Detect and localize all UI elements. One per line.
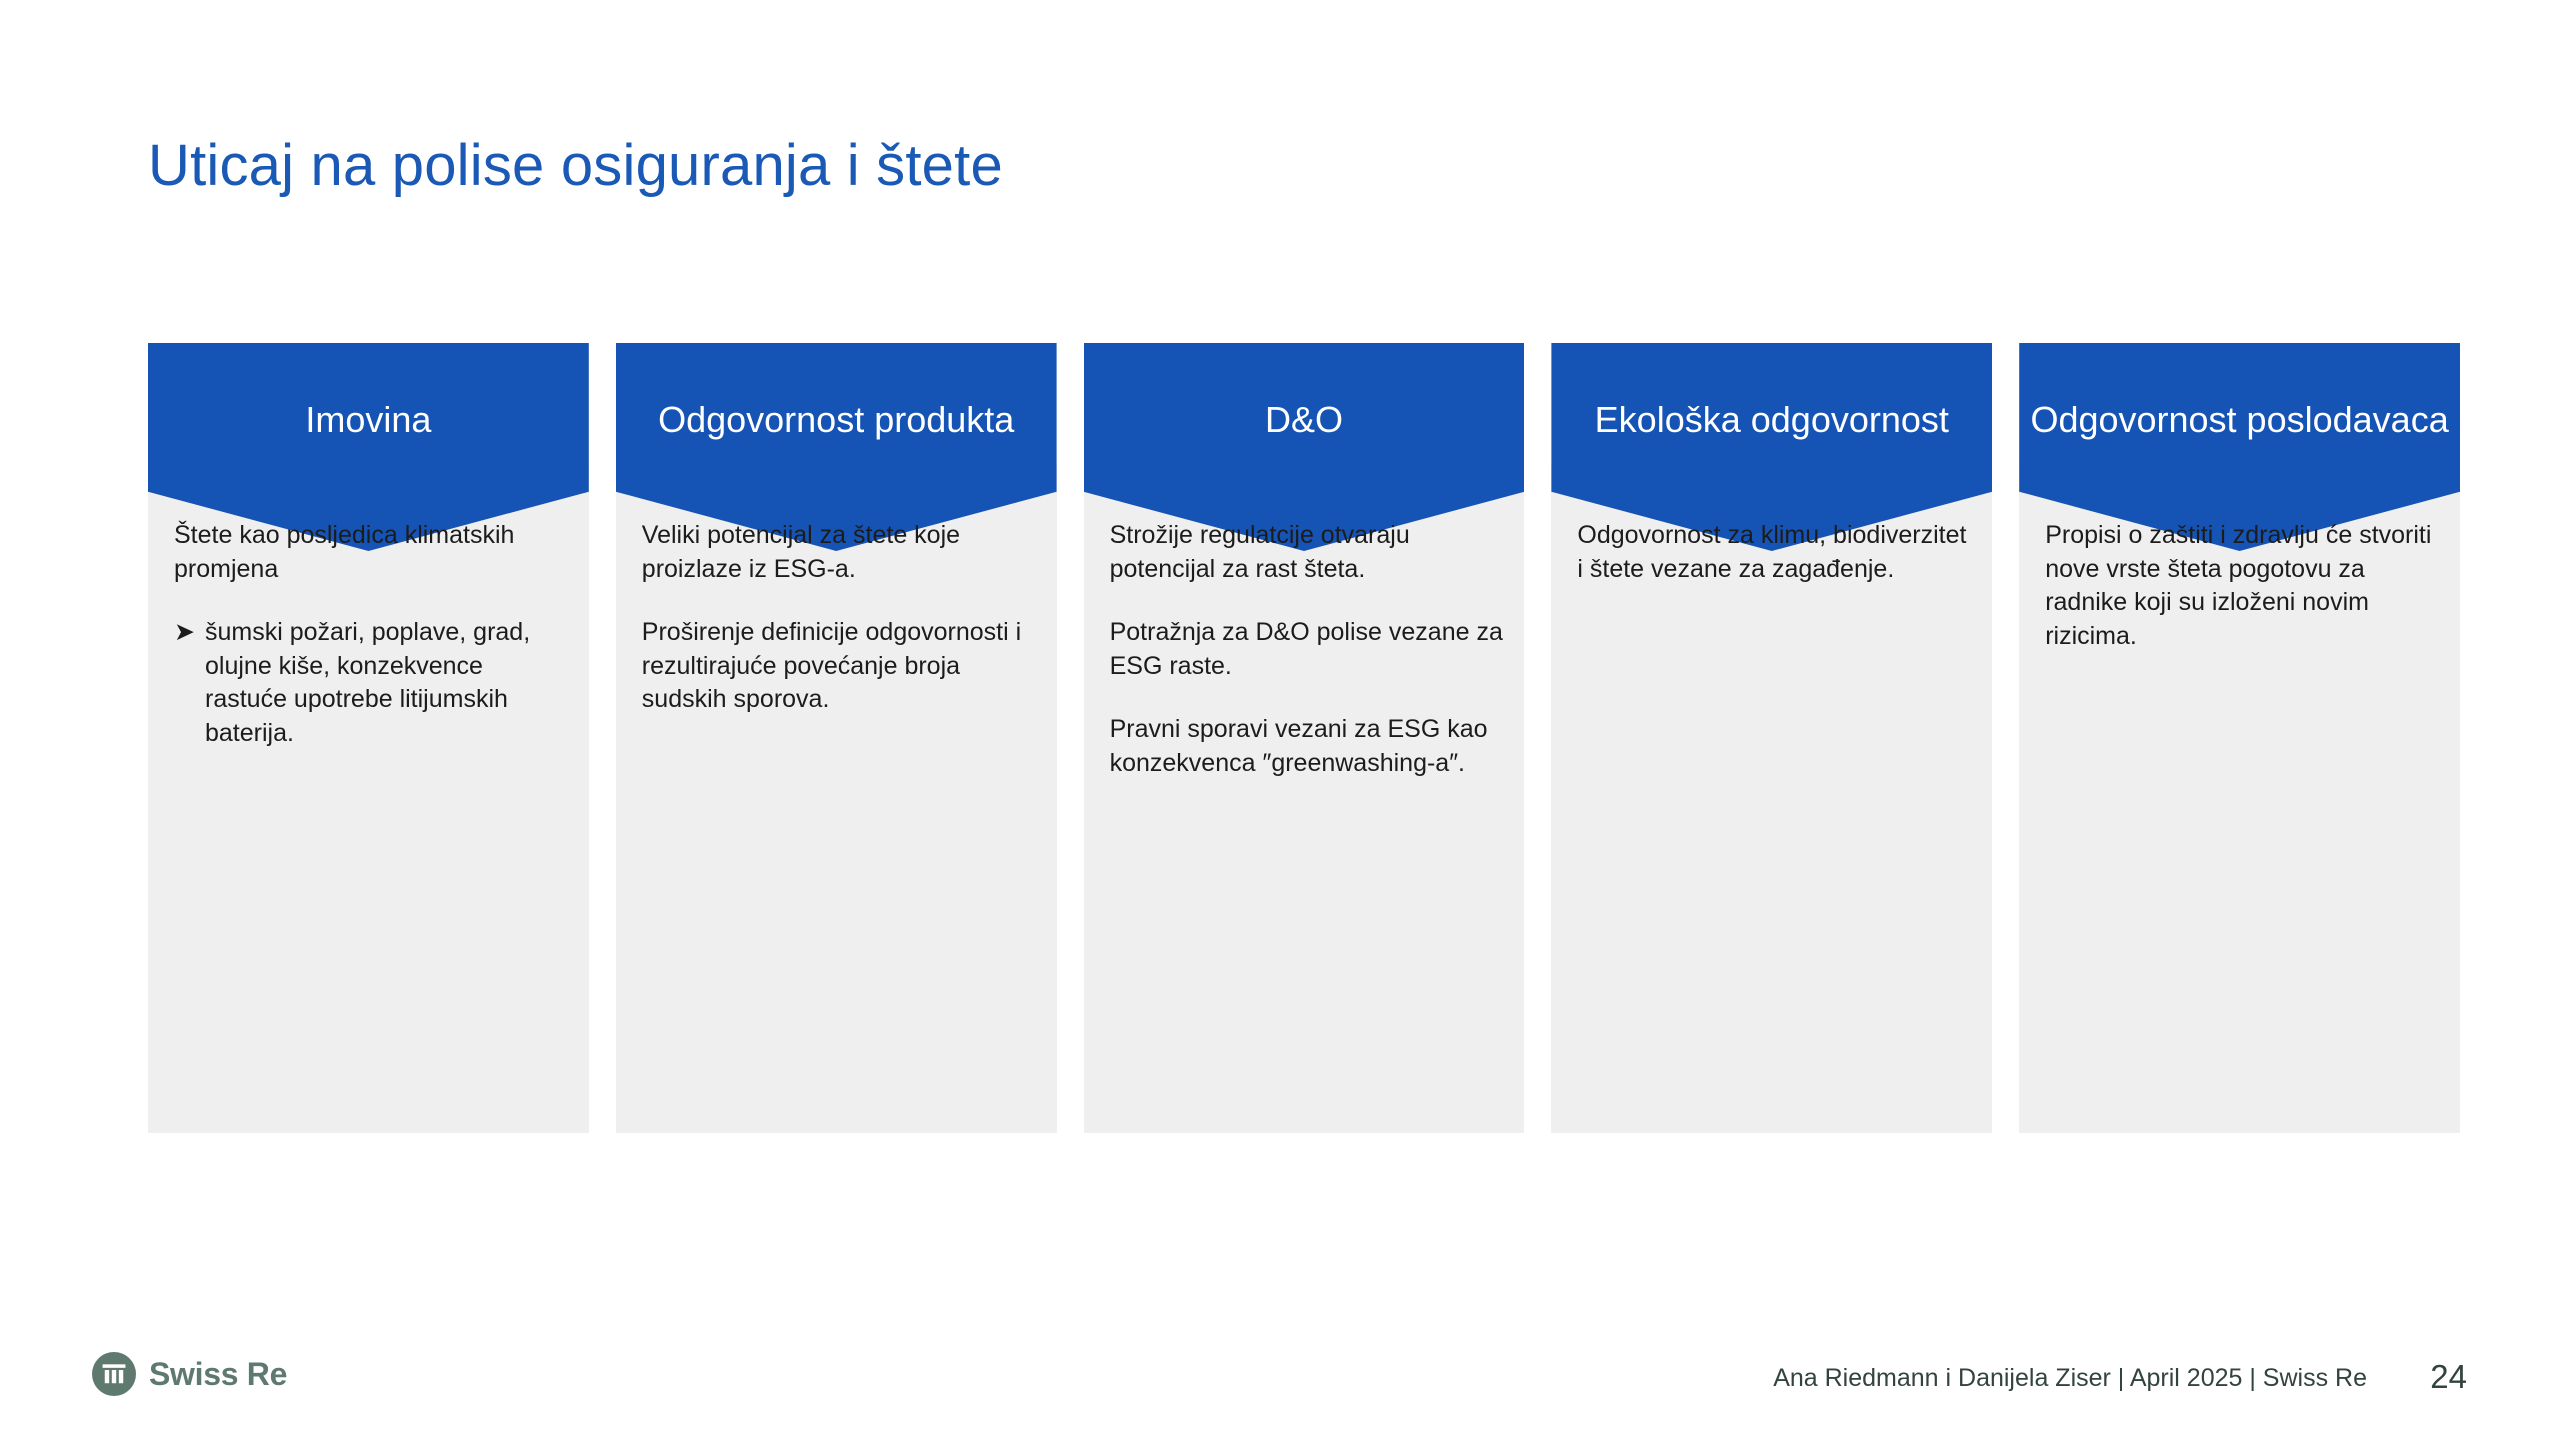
column-header-label: Odgovornost poslodavaca xyxy=(2025,397,2454,443)
column-odgovornost-poslodavaca: Odgovornost poslodavaca Propisi o zaštit… xyxy=(2019,343,2460,1133)
column-imovina: Imovina Štete kao posljedica klimatskih … xyxy=(148,343,589,1133)
presentation-slide: Uticaj na polise osiguranja i štete Imov… xyxy=(0,0,2560,1440)
column-body-text: Odgovornost za klimu, biodiverzitet i št… xyxy=(1577,519,1974,586)
column-header-label: Odgovornost produkta xyxy=(622,397,1051,443)
columns-container: Imovina Štete kao posljedica klimatskih … xyxy=(148,343,2460,1133)
column-header-label: D&O xyxy=(1090,397,1519,443)
column-body-text: Strožije regulatcije otvaraju potencijal… xyxy=(1110,519,1507,780)
column-odgovornost-produkta: Odgovornost produkta Veliki potencijal z… xyxy=(616,343,1057,1133)
paragraph: Štete kao posljedica klimatskih promjena xyxy=(174,519,571,586)
paragraph: Propisi o zaštiti i zdravlju će stvoriti… xyxy=(2045,519,2442,653)
paragraph: Odgovornost za klimu, biodiverzitet i št… xyxy=(1577,519,1974,586)
paragraph: Veliki potencijal za štete koje proizlaz… xyxy=(642,519,1039,586)
swiss-re-logo: Swiss Re xyxy=(92,1352,287,1396)
column-d-and-o: D&O Strožije regulatcije otvaraju potenc… xyxy=(1084,343,1525,1133)
column-header-label: Ekološka odgovornost xyxy=(1557,397,1986,443)
paragraph: Strožije regulatcije otvaraju potencijal… xyxy=(1110,519,1507,586)
page-title: Uticaj na polise osiguranja i štete xyxy=(148,135,1948,198)
column-body-text: Veliki potencijal za štete koje proizlaz… xyxy=(642,519,1039,717)
footer-meta-text: Ana Riedmann i Danijela Ziser | April 20… xyxy=(1773,1364,2367,1393)
column-body-text: Propisi o zaštiti i zdravlju će stvoriti… xyxy=(2045,519,2442,653)
list-item-label: šumski požari, poplave, grad, olujne kiš… xyxy=(205,616,571,750)
column-body-text: Štete kao posljedica klimatskih promjena… xyxy=(174,519,571,750)
list-item: ➤ šumski požari, poplave, grad, olujne k… xyxy=(174,616,571,750)
paragraph: Pravni sporavi vezani za ESG kao konzekv… xyxy=(1110,713,1507,780)
column-ekoloska-odgovornost: Ekološka odgovornost Odgovornost za klim… xyxy=(1551,343,1992,1133)
page-number: 24 xyxy=(2397,1358,2467,1396)
column-header-label: Imovina xyxy=(154,397,583,443)
paragraph: Potražnja za D&O polise vezane za ESG ra… xyxy=(1110,616,1507,683)
chevron-bullet-icon: ➤ xyxy=(174,616,205,650)
paragraph: Proširenje definicije odgovornosti i rez… xyxy=(642,616,1039,717)
swiss-re-temple-icon xyxy=(92,1352,136,1396)
swiss-re-wordmark: Swiss Re xyxy=(149,1356,287,1393)
